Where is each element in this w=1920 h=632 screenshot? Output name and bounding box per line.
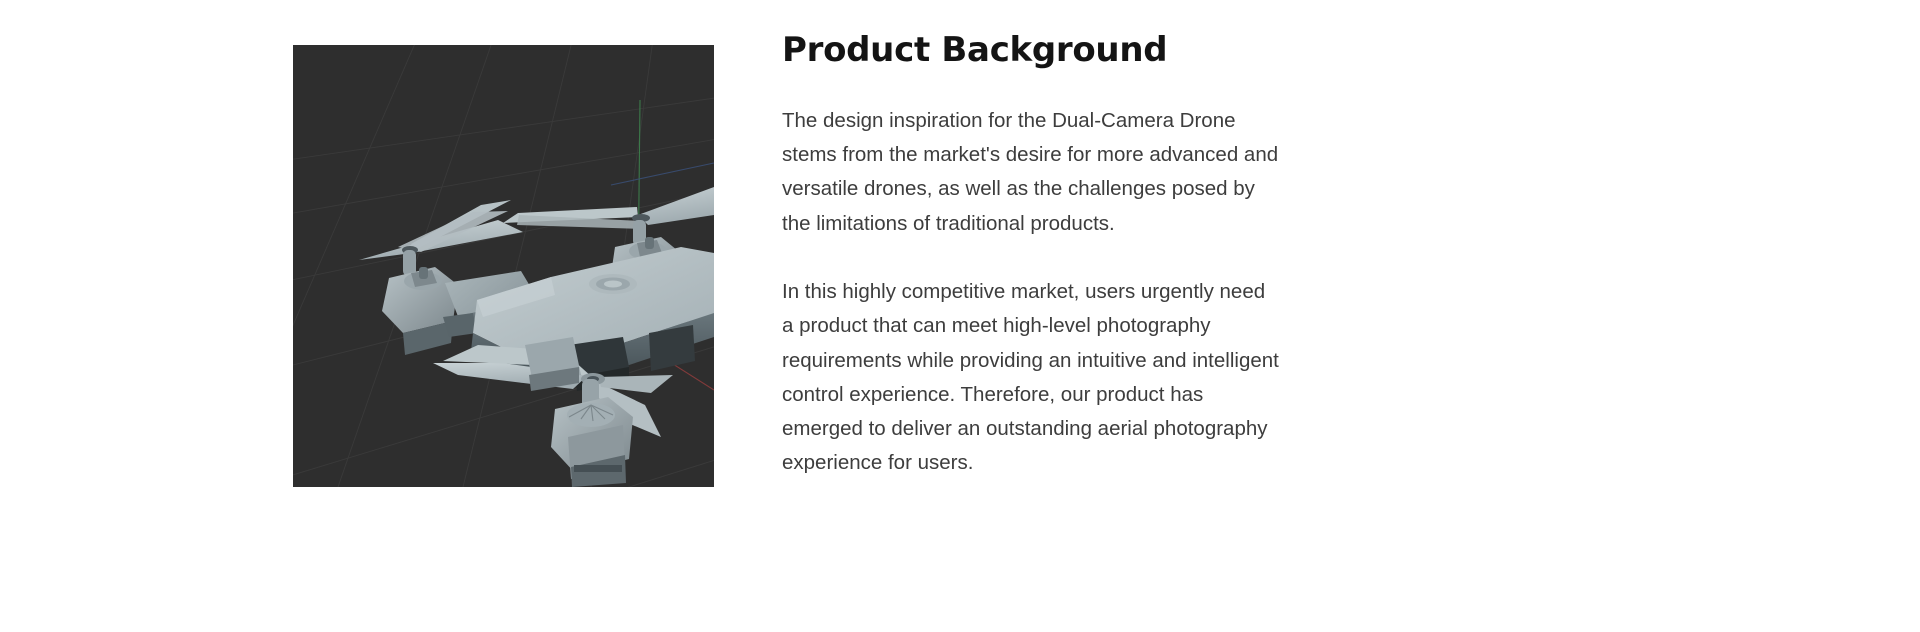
page-title: Product Background <box>782 30 1302 71</box>
body-paragraph-2: In this highly competitive market, users… <box>782 275 1282 481</box>
drone-render-panel <box>293 45 714 487</box>
paragraph-spacer <box>782 241 1302 275</box>
drone-3d-viewport <box>293 45 714 487</box>
text-column: Product Background The design inspiratio… <box>782 30 1302 481</box>
body-paragraph-1: The design inspiration for the Dual-Came… <box>782 104 1282 241</box>
product-background-slide: Product Background The design inspiratio… <box>0 0 1920 632</box>
